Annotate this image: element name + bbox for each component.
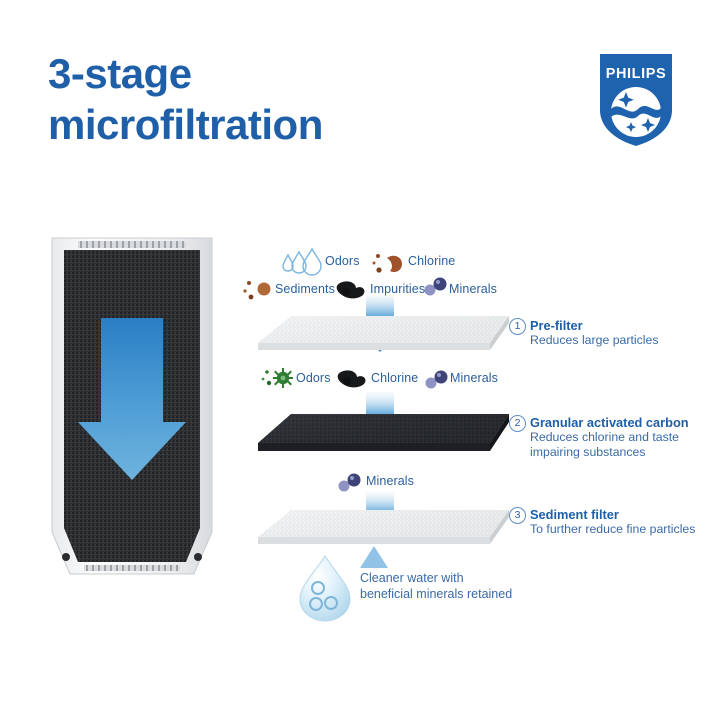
stage-2-description: 2 Granular activated carbon Reduces chlo…	[509, 415, 689, 460]
green-germ-icon	[262, 368, 293, 388]
stage-2-subtitle-line-2: impairing substances	[530, 445, 689, 460]
stage-2-subtitle-line-1: Reduces chlorine and taste	[530, 430, 689, 445]
label-minerals-stage2: Minerals	[450, 371, 498, 385]
stage-3-title: Sediment filter	[530, 507, 695, 522]
blue-spheres-icon	[426, 371, 448, 389]
stage-3-number: 3	[509, 507, 526, 524]
stage-1-subtitle: Reduces large particles	[530, 333, 659, 348]
label-impurities-stage1: Impurities	[370, 282, 425, 296]
label-minerals-stage1: Minerals	[449, 282, 497, 296]
black-blob-icon	[337, 281, 365, 298]
stage-3-description: 3 Sediment filter To further reduce fine…	[509, 507, 695, 537]
water-droplet-icon	[300, 556, 350, 621]
filtration-diagram	[0, 0, 720, 720]
filter-layer-3	[258, 510, 509, 544]
label-minerals-stage3: Minerals	[366, 474, 414, 488]
water-drops-icon	[283, 249, 321, 275]
stage-2-number: 2	[509, 415, 526, 432]
black-blob-icon	[338, 370, 366, 387]
filter-layer-1	[258, 316, 509, 350]
outcome-line-1: Cleaner water with	[360, 570, 512, 586]
stage-1-title: Pre-filter	[530, 318, 659, 333]
outcome-line-2: beneficial minerals retained	[360, 586, 512, 602]
arrow-to-outcome	[360, 546, 388, 568]
filter-layer-2	[258, 414, 509, 451]
outcome-description: Cleaner water with beneficial minerals r…	[360, 570, 512, 602]
label-odors-stage1: Odors	[325, 254, 360, 268]
stage-1-description: 1 Pre-filter Reduces large particles	[509, 318, 659, 348]
stage-3-subtitle: To further reduce fine particles	[530, 522, 695, 537]
blue-spheres-icon	[425, 278, 447, 296]
label-chlorine-stage2: Chlorine	[371, 371, 418, 385]
label-odors-stage2: Odors	[296, 371, 331, 385]
brown-blob-icon	[373, 254, 403, 273]
stage-2-title: Granular activated carbon	[530, 415, 689, 430]
blue-spheres-icon	[339, 474, 361, 492]
stage-1-number: 1	[509, 318, 526, 335]
label-chlorine-stage1: Chlorine	[408, 254, 455, 268]
label-sediments-stage1: Sediments	[275, 282, 335, 296]
brown-dots-icon	[243, 281, 270, 299]
